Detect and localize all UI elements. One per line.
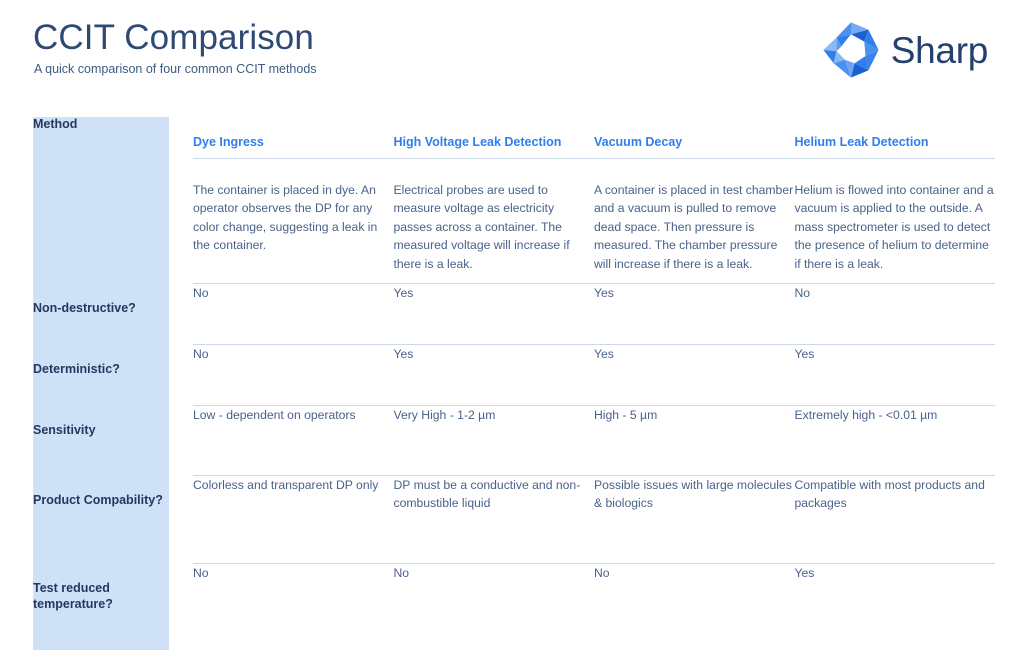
cell-deterministic-vacuum-decay: Yes <box>594 344 795 405</box>
brand-lockup: Sharp <box>821 20 988 80</box>
cell-reduced-temp-high-voltage: No <box>394 563 595 625</box>
row-label-deterministic: Deterministic? <box>33 344 193 405</box>
cell-non-destructive-dye-ingress: No <box>193 283 394 344</box>
table-row-non-destructive: Non-destructive? No Yes Yes No <box>33 283 995 344</box>
table-row-test-reduced-temperature: Test reduced temperature? No No No Yes <box>33 563 995 625</box>
cell-description-vacuum-decay: A container is placed in test chamber an… <box>594 158 795 283</box>
cell-reduced-temp-helium: Yes <box>795 563 996 625</box>
cell-description-dye-ingress: The container is placed in dye. An opera… <box>193 158 394 283</box>
cell-deterministic-helium: Yes <box>795 344 996 405</box>
cell-sensitivity-high-voltage: Very High - 1-2 µm <box>394 405 595 475</box>
cell-sensitivity-helium: Extremely high - <0.01 µm <box>795 405 996 475</box>
cell-description-helium: Helium is flowed into container and a va… <box>795 158 996 283</box>
cell-non-destructive-vacuum-decay: Yes <box>594 283 795 344</box>
comparison-table-wrap: Method Dye Ingress High Voltage Leak Det… <box>33 117 995 625</box>
table-row-deterministic: Deterministic? No Yes Yes Yes <box>33 344 995 405</box>
row-label-description <box>33 158 193 283</box>
row-label-test-reduced-temperature: Test reduced temperature? <box>33 563 193 625</box>
cell-description-high-voltage: Electrical probes are used to measure vo… <box>394 158 595 283</box>
cell-compability-helium: Compatible with most products and packag… <box>795 475 996 563</box>
cell-non-destructive-high-voltage: Yes <box>394 283 595 344</box>
cell-reduced-temp-vacuum-decay: No <box>594 563 795 625</box>
cell-deterministic-dye-ingress: No <box>193 344 394 405</box>
table-row-product-compability: Product Compability? Colorless and trans… <box>33 475 995 563</box>
brand-name: Sharp <box>891 32 988 69</box>
column-header-dye-ingress: Dye Ingress <box>193 117 394 158</box>
column-header-helium-leak-detection: Helium Leak Detection <box>795 117 996 158</box>
row-label-non-destructive: Non-destructive? <box>33 283 193 344</box>
sharp-octagon-logo-icon <box>821 20 881 80</box>
row-label-product-compability: Product Compability? <box>33 475 193 563</box>
cell-sensitivity-vacuum-decay: High - 5 µm <box>594 405 795 475</box>
cell-compability-high-voltage: DP must be a conductive and non-combusti… <box>394 475 595 563</box>
ccit-comparison-table: Method Dye Ingress High Voltage Leak Det… <box>33 117 995 625</box>
column-header-vacuum-decay: Vacuum Decay <box>594 117 795 158</box>
table-header-row: Method Dye Ingress High Voltage Leak Det… <box>33 117 995 158</box>
cell-non-destructive-helium: No <box>795 283 996 344</box>
table-row-description: The container is placed in dye. An opera… <box>33 158 995 283</box>
cell-compability-dye-ingress: Colorless and transparent DP only <box>193 475 394 563</box>
column-header-high-voltage-leak-detection: High Voltage Leak Detection <box>394 117 595 158</box>
cell-compability-vacuum-decay: Possible issues with large molecules & b… <box>594 475 795 563</box>
row-label-sensitivity: Sensitivity <box>33 405 193 475</box>
table-row-sensitivity: Sensitivity Low - dependent on operators… <box>33 405 995 475</box>
infographic-page: CCIT Comparison A quick comparison of fo… <box>0 0 1024 666</box>
cell-sensitivity-dye-ingress: Low - dependent on operators <box>193 405 394 475</box>
cell-deterministic-high-voltage: Yes <box>394 344 595 405</box>
column-header-method: Method <box>33 117 193 158</box>
cell-reduced-temp-dye-ingress: No <box>193 563 394 625</box>
